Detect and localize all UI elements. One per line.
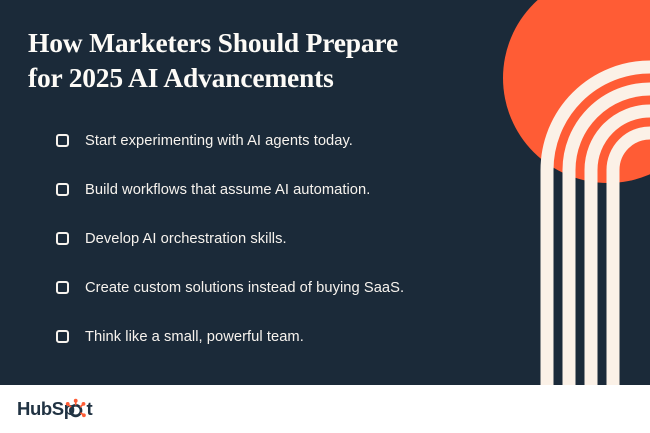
list-item: Create custom solutions instead of buyin… xyxy=(56,263,526,312)
page-title: How Marketers Should Prepare for 2025 AI… xyxy=(28,26,488,95)
hubspot-logo-text-prefix: HubSp xyxy=(17,398,75,419)
list-item: Develop AI orchestration skills. xyxy=(56,214,526,263)
list-item-label: Build workflows that assume AI automatio… xyxy=(85,182,370,198)
arc-3 xyxy=(591,111,650,385)
checkbox-icon[interactable] xyxy=(56,183,69,196)
poster-canvas: How Marketers Should Prepare for 2025 AI… xyxy=(0,0,650,433)
title-line-2: for 2025 AI Advancements xyxy=(28,61,488,96)
hubspot-logo-text-suffix: t xyxy=(87,398,93,419)
checkbox-icon[interactable] xyxy=(56,281,69,294)
list-item: Start experimenting with AI agents today… xyxy=(56,116,526,165)
arc-1 xyxy=(547,67,650,385)
list-item: Build workflows that assume AI automatio… xyxy=(56,165,526,214)
arc-4 xyxy=(613,133,650,385)
checkbox-icon[interactable] xyxy=(56,232,69,245)
list-item-label: Develop AI orchestration skills. xyxy=(85,231,287,247)
footer-bar: HubSp t xyxy=(0,385,650,433)
hubspot-logo[interactable]: HubSp t xyxy=(17,396,109,422)
checkbox-icon[interactable] xyxy=(56,330,69,343)
list-item-label: Think like a small, powerful team. xyxy=(85,329,304,345)
list-item-label: Create custom solutions instead of buyin… xyxy=(85,280,404,296)
checkbox-icon[interactable] xyxy=(56,134,69,147)
list-item: Think like a small, powerful team. xyxy=(56,312,526,361)
arc-2 xyxy=(569,89,650,385)
list-item-label: Start experimenting with AI agents today… xyxy=(85,133,353,149)
title-line-1: How Marketers Should Prepare xyxy=(28,26,488,61)
checklist: Start experimenting with AI agents today… xyxy=(56,116,526,361)
poster-content: How Marketers Should Prepare for 2025 AI… xyxy=(0,0,520,385)
